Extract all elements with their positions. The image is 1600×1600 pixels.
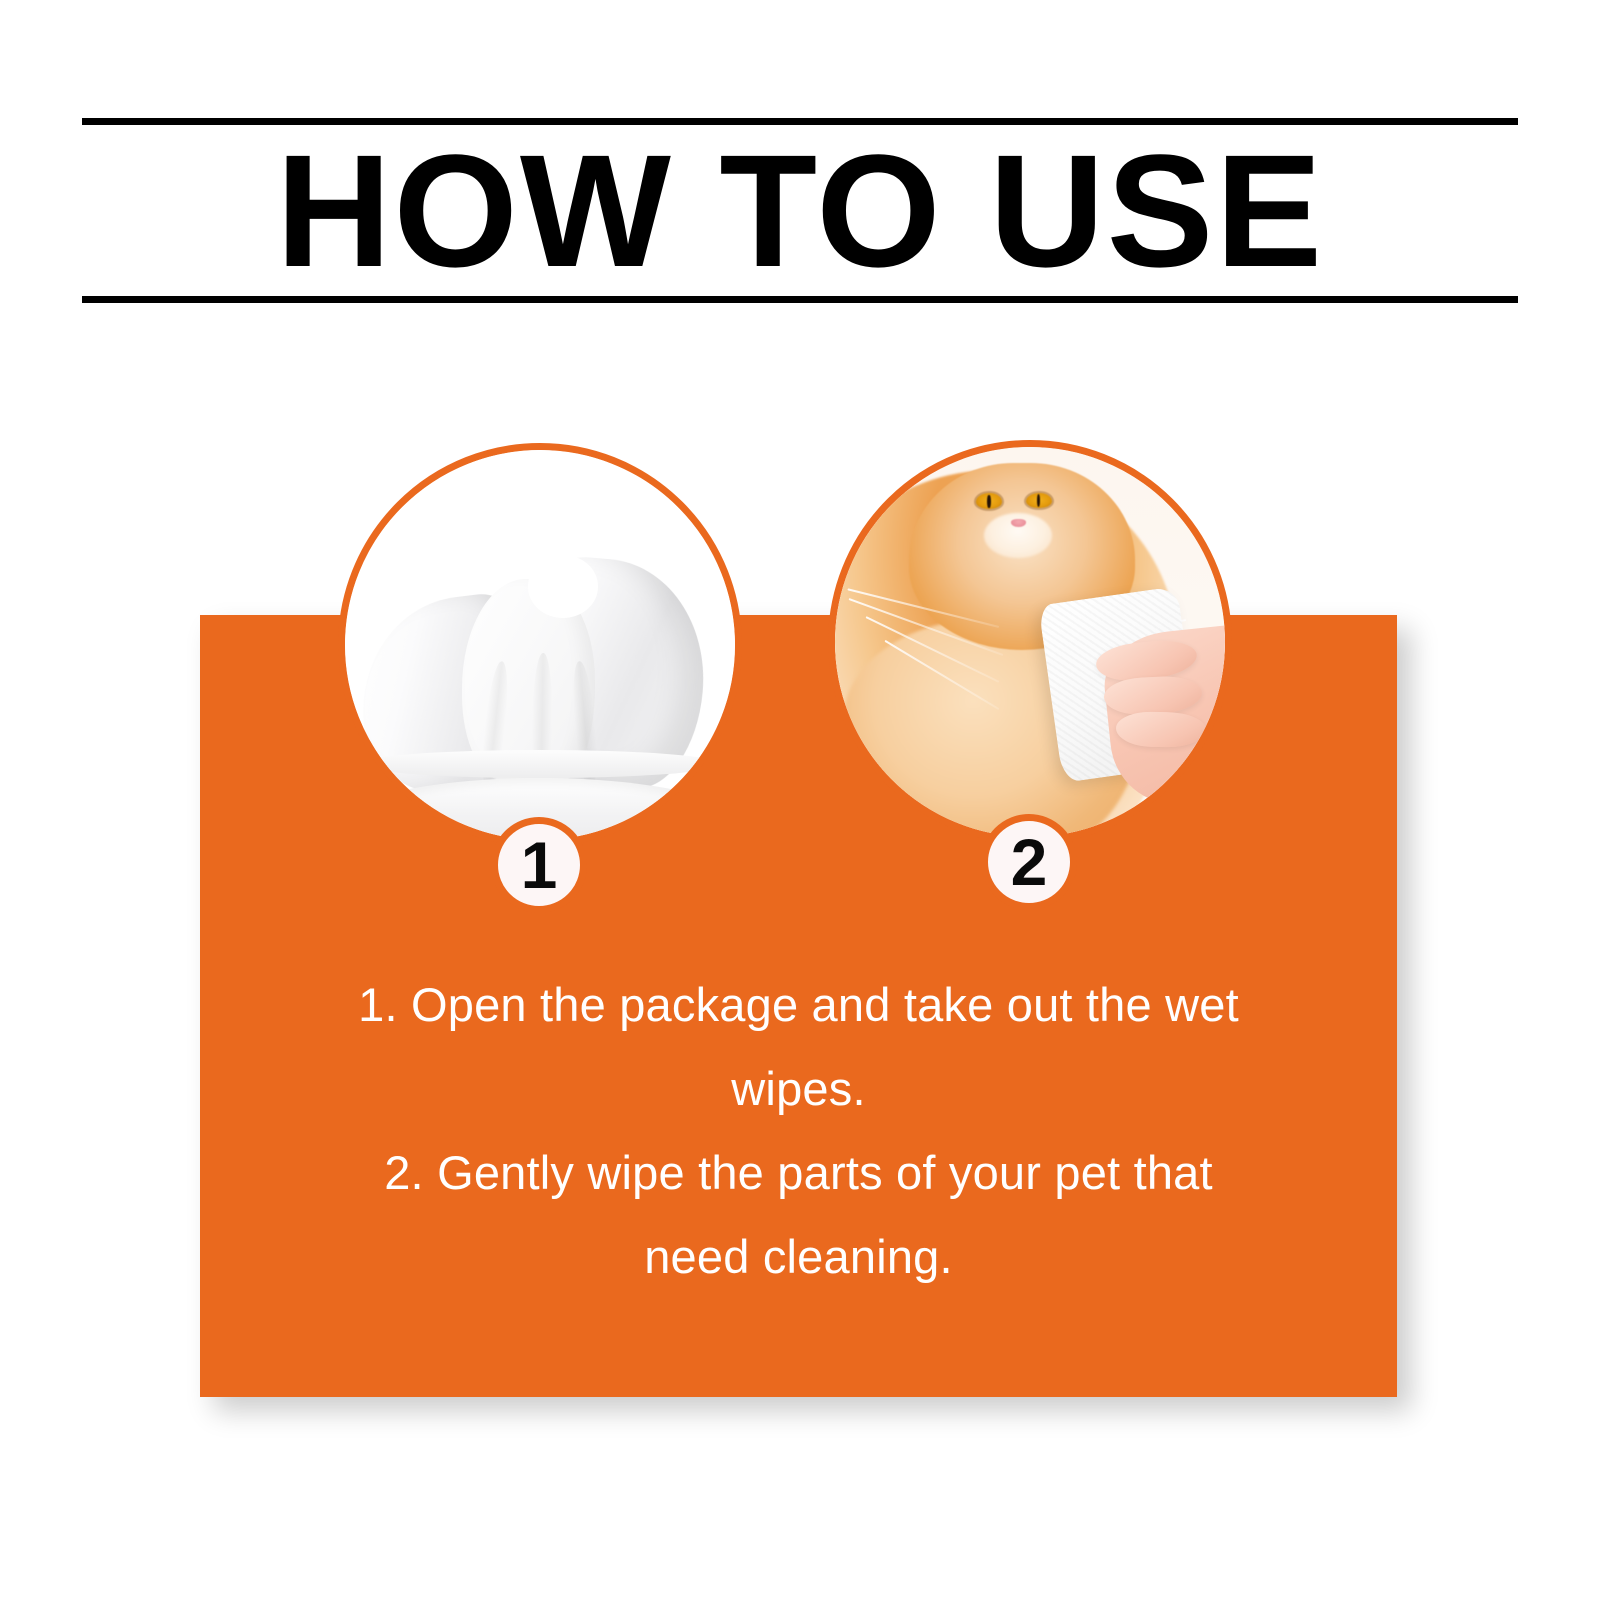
step-1-number-badge: 1 [491,817,587,913]
instruction-line-4: need cleaning. [290,1215,1307,1299]
how-to-use-infographic: HOW TO USE 1. Open the package and take … [0,0,1600,1600]
tissue-scene [345,450,735,840]
step-2-image [828,440,1232,844]
whisker [865,616,999,683]
step-1-image [338,443,742,847]
header: HOW TO USE [82,118,1518,308]
wet-wipe-tissue-dispenser-photo [345,450,735,840]
step-1-photo-frame [338,443,742,847]
tissue-sheet-notch [528,555,598,617]
instruction-line-3: 2. Gently wipe the parts of your pet tha… [290,1131,1307,1215]
page-title: HOW TO USE [82,126,1518,296]
instruction-line-2: wipes. [290,1047,1307,1131]
dispenser-lip [361,750,720,777]
finger [1115,711,1205,748]
instructions-text: 1. Open the package and take out the wet… [290,963,1307,1299]
title-rule-bottom [82,296,1518,303]
whisker [847,589,999,629]
step-2-number-badge: 2 [981,814,1077,910]
ginger-cat-being-wiped-photo [835,447,1225,837]
step-2-photo-frame [828,440,1232,844]
cat-scene [835,447,1225,837]
instruction-line-1: 1. Open the package and take out the wet [290,963,1307,1047]
